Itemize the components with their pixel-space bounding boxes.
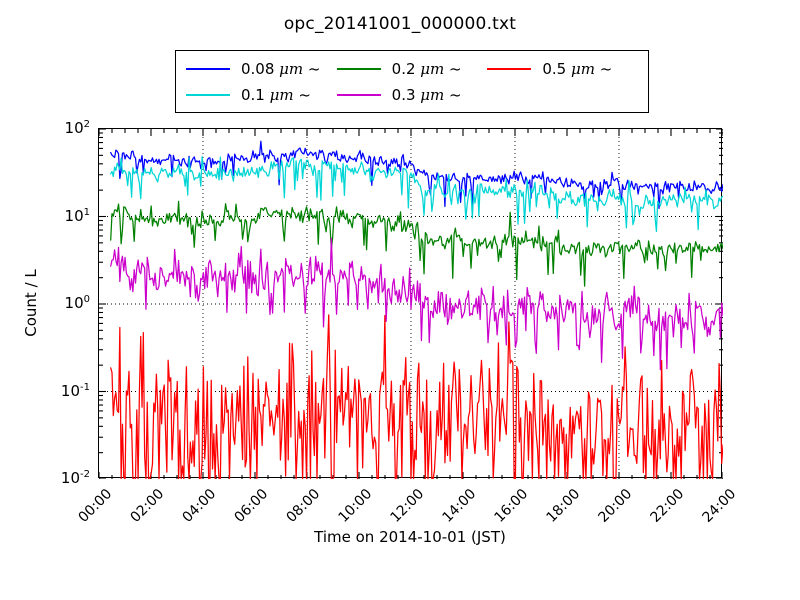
- legend-row: 0.08 μm ~ 0.2 μm ~ 0.5 μm ~: [186, 56, 638, 82]
- legend-swatch-icon: [186, 94, 230, 96]
- legend-swatch-icon: [186, 68, 230, 70]
- legend-swatch-icon: [337, 94, 381, 96]
- legend-swatch-icon: [337, 68, 381, 70]
- chart-figure: opc_20141001_000000.txt 0.08 μm ~ 0.2 μm…: [0, 0, 800, 600]
- legend-entry-2[interactable]: 0.2 μm ~: [337, 60, 488, 78]
- plot-canvas: [99, 129, 723, 479]
- y-tick-label: 100: [0, 294, 90, 312]
- legend-swatch-icon: [487, 68, 531, 70]
- y-axis-label: Count / L: [22, 128, 40, 478]
- y-tick-label: 101: [0, 207, 90, 225]
- legend-entry-1[interactable]: 0.1 μm ~: [186, 86, 337, 104]
- legend-entry-4[interactable]: 0.5 μm ~: [487, 60, 638, 78]
- series-line-2: [111, 201, 723, 286]
- y-tick-label: 10-2: [0, 469, 90, 487]
- legend-row: 0.1 μm ~ 0.3 μm ~: [186, 82, 638, 108]
- chart-title: opc_20141001_000000.txt: [0, 14, 800, 34]
- y-tick-label: 10-1: [0, 382, 90, 400]
- chart-legend: 0.08 μm ~ 0.2 μm ~ 0.5 μm ~ 0.1 μm ~ 0.3…: [175, 50, 649, 113]
- legend-label: 0.2 μm ~: [392, 60, 462, 78]
- x-axis-label: Time on 2014-10-01 (JST): [98, 528, 722, 546]
- y-tick-label: 102: [0, 119, 90, 137]
- series-line-3: [111, 238, 723, 369]
- series-line-1: [111, 157, 723, 232]
- legend-entry-3[interactable]: 0.3 μm ~: [337, 86, 488, 104]
- legend-label: 0.1 μm ~: [241, 86, 311, 104]
- legend-label: 0.5 μm ~: [542, 60, 612, 78]
- legend-entry-0[interactable]: 0.08 μm ~: [186, 60, 337, 78]
- series-line-4: [111, 315, 723, 479]
- legend-label: 0.3 μm ~: [392, 86, 462, 104]
- plot-area: [98, 128, 722, 478]
- legend-label: 0.08 μm ~: [241, 60, 321, 78]
